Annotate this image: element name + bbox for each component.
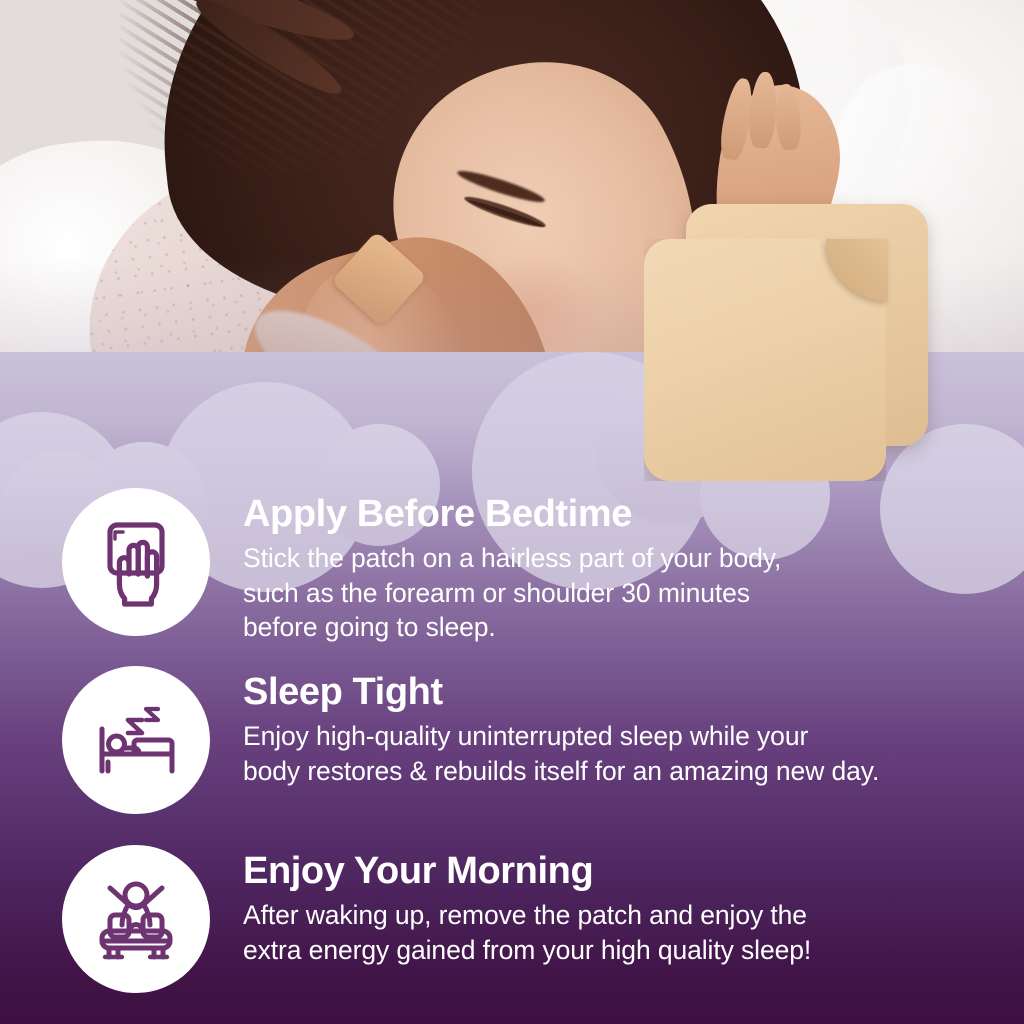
step-title: Sleep Tight — [243, 672, 879, 712]
person-stretching-waking-up-in-bed-icon — [62, 845, 210, 993]
person-sleeping-in-bed-zzz-icon — [62, 666, 210, 814]
step-sleep-tight: Sleep Tight Enjoy high-quality uninterru… — [62, 666, 879, 814]
step-description-line: before going to sleep. — [243, 610, 781, 644]
step-text: Sleep Tight Enjoy high-quality uninterru… — [243, 666, 879, 788]
step-apply-before-bedtime: Apply Before Bedtime Stick the patch on … — [62, 488, 781, 645]
hand-applying-patch-icon — [62, 488, 210, 636]
step-text: Enjoy Your Morning After waking up, remo… — [243, 845, 811, 967]
step-text: Apply Before Bedtime Stick the patch on … — [243, 488, 781, 645]
step-description: After waking up, remove the patch and en… — [243, 898, 811, 967]
step-title: Enjoy Your Morning — [243, 851, 811, 891]
step-title: Apply Before Bedtime — [243, 494, 781, 534]
step-description-line: Stick the patch on a hairless part of yo… — [243, 541, 781, 575]
step-description-line: After waking up, remove the patch and en… — [243, 898, 811, 932]
step-description-line: such as the forearm or shoulder 30 minut… — [243, 576, 781, 610]
step-description-line: extra energy gained from your high quali… — [243, 933, 811, 967]
step-description-line: body restores & rebuilds itself for an a… — [243, 754, 879, 788]
step-description: Enjoy high-quality uninterrupted sleep w… — [243, 719, 879, 788]
infographic-canvas: Apply Before Bedtime Stick the patch on … — [0, 0, 1024, 1024]
step-enjoy-your-morning: Enjoy Your Morning After waking up, remo… — [62, 845, 811, 993]
step-description: Stick the patch on a hairless part of yo… — [243, 541, 781, 644]
step-description-line: Enjoy high-quality uninterrupted sleep w… — [243, 719, 879, 753]
